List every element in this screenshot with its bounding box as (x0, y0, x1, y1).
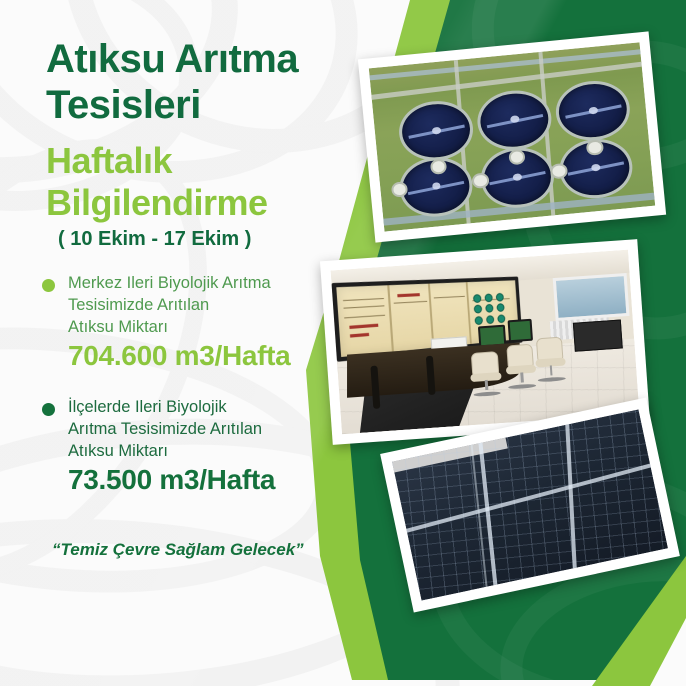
stat-value: 704.600 m3/Hafta (68, 340, 354, 372)
window (552, 273, 629, 321)
page-title: Atıksu Arıtma Tesisleri (46, 36, 346, 128)
stat-value: 73.500 m3/Hafta (68, 464, 354, 496)
aerial-illustration (369, 42, 655, 231)
poster-canvas: Atıksu Arıtma Tesisleri Haftalık Bilgile… (0, 0, 686, 686)
office-chair (468, 351, 504, 397)
office-chair (533, 336, 569, 382)
title-line-1: Atıksu Arıtma (46, 36, 346, 82)
stat-line-1: İlçelerde Ileri Biyolojik (68, 396, 354, 418)
bullet-dot-icon (42, 403, 55, 416)
sedimentation-tank (553, 78, 632, 144)
control-room-illustration (331, 250, 640, 434)
road (369, 49, 640, 80)
page-subtitle: Haftalık Bilgilendirme (46, 140, 356, 224)
photo-inner (331, 250, 640, 434)
stat-line-2: Tesisimizde Arıtılan (68, 294, 354, 316)
title-line-2: Tesisleri (46, 82, 346, 128)
photo-inner (369, 42, 655, 231)
slogan: “Temiz Çevre Sağlam Gelecek” (52, 540, 352, 560)
text-column: Atıksu Arıtma Tesisleri Haftalık Bilgile… (0, 0, 360, 686)
stat-line-1: Merkez Ileri Biyolojik Arıtma (68, 272, 354, 294)
stat-description: Merkez Ileri Biyolojik Arıtma Tesisimizd… (68, 272, 354, 338)
equipment-cabinet (573, 319, 623, 352)
stat-line-3: Atıksu Miktarı (68, 316, 354, 338)
date-range: ( 10 Ekim - 17 Ekim ) (58, 228, 358, 251)
computer-monitor (507, 319, 532, 342)
subtitle-line-2: Bilgilendirme (46, 182, 356, 224)
subtitle-line-1: Haftalık (46, 140, 356, 182)
stat-line-3: Atıksu Miktarı (68, 440, 354, 462)
photo-aerial-wastewater-treatment-tanks (358, 31, 666, 242)
stat-description: İlçelerde Ileri Biyolojik Arıtma Tesisim… (68, 396, 354, 462)
stat-block-merkez: Merkez Ileri Biyolojik Arıtma Tesisimizd… (42, 272, 354, 372)
stat-block-ilceler: İlçelerde Ileri Biyolojik Arıtma Tesisim… (42, 396, 354, 496)
stat-line-2: Arıtma Tesisimizde Arıtılan (68, 418, 354, 440)
bullet-dot-icon (42, 279, 55, 292)
panel-section (336, 286, 393, 358)
